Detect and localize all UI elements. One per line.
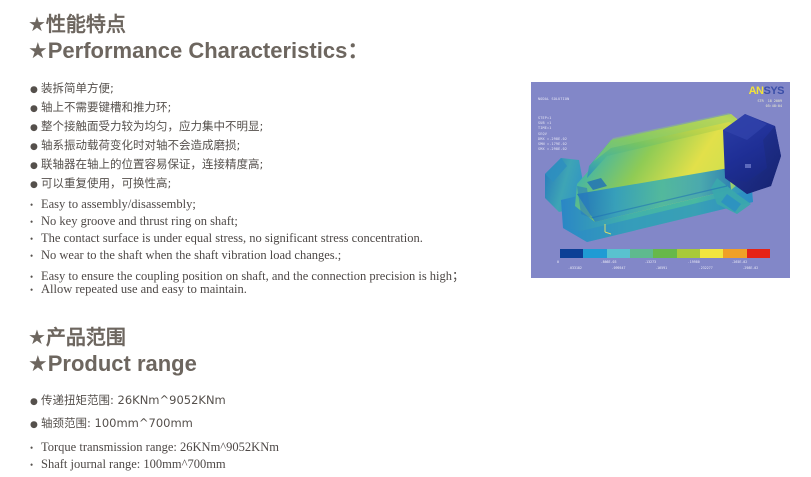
- bullet-dot-icon: ●: [30, 181, 41, 190]
- list-item: •Torque transmission range: 26KNm^9052KN…: [30, 440, 279, 457]
- fea-colorbar-labels-upper: 0 .866E-03 .13273 .19980 .265E-02: [557, 260, 775, 264]
- ansys-logo: ANSYS: [749, 86, 784, 97]
- performance-bullets-cn: ●装拆简单方便; ●轴上不需要键槽和推力环; ●整个接触面受力较为均匀，应力集中…: [30, 80, 263, 194]
- performance-bullets-en: •Easy to assembly/disassembly; •No key g…: [30, 197, 465, 299]
- list-item-label: No key groove and thrust ring on shaft;: [41, 214, 238, 229]
- list-item-label: Allow repeated use and easy to maintain.: [41, 282, 247, 297]
- list-item: ●装拆简单方便;: [30, 80, 263, 99]
- list-item: ●轴上不需要键槽和推力环;: [30, 99, 263, 118]
- bullet-dot-icon: ●: [30, 162, 41, 171]
- bullet-dot-icon: •: [30, 461, 41, 470]
- colorbar-label: .13273: [644, 260, 688, 264]
- list-item: ●轴系振动载荷变化时对轴不会造成磨损;: [30, 137, 263, 156]
- bullet-dot-icon: ●: [30, 124, 41, 133]
- list-item: ●轴颈范围: 100mm^700mm: [30, 415, 226, 438]
- list-item-label: Torque transmission range: 26KNm^9052KNm: [41, 440, 279, 455]
- colorbar-label: 0: [557, 260, 601, 264]
- bullet-dot-icon: ●: [30, 398, 41, 407]
- fea-info-lines: STEP=1 SUB =1 TIME=1 SEQV DMX =.298E-02 …: [538, 116, 569, 152]
- bullet-dot-icon: •: [30, 286, 41, 295]
- bullet-dot-icon: •: [30, 252, 41, 261]
- list-item: •Shaft journal range: 100mm^700mm: [30, 457, 279, 474]
- colorbar-swatch: [653, 249, 676, 258]
- colorbar-label: .298E-02: [742, 266, 786, 270]
- list-item: ●整个接触面受力较为均匀，应力集中不明显;: [30, 118, 263, 137]
- bullet-dot-icon: ●: [30, 105, 41, 114]
- colorbar-swatch: [723, 249, 746, 258]
- fea-colorbar: [560, 249, 770, 258]
- list-item-label: 装拆简单方便;: [41, 80, 114, 96]
- bullet-dot-icon: ●: [30, 86, 41, 95]
- product-range-heading-block: ★产品范围 ★Product range: [28, 327, 197, 377]
- performance-heading-en: ★Performance Characteristics：: [28, 38, 369, 64]
- list-item-label: Shaft journal range: 100mm^700mm: [41, 457, 226, 472]
- list-item: •No key groove and thrust ring on shaft;: [30, 214, 465, 231]
- ansys-fea-figure: NODAL SOLUTION STEP=1 SUB =1 TIME=1 SEQV…: [531, 82, 790, 278]
- list-item-label: 可以重复使用，可换性高;: [41, 175, 171, 191]
- list-item: •Allow repeated use and easy to maintain…: [30, 282, 465, 299]
- fea-info-block: NODAL SOLUTION STEP=1 SUB =1 TIME=1 SEQV…: [538, 87, 569, 163]
- bullet-dot-icon: •: [30, 201, 41, 210]
- colorbar-label: .16591: [655, 266, 699, 270]
- list-item: ●传递扭矩范围: 26KNm^9052KNm: [30, 392, 226, 415]
- list-item: •No wear to the shaft when the shaft vib…: [30, 248, 465, 265]
- product-range-heading-en: ★Product range: [28, 351, 197, 377]
- bullet-dot-icon: ●: [30, 143, 41, 152]
- ansys-logo-part2: SYS: [763, 85, 784, 97]
- list-item-label: No wear to the shaft when the shaft vibr…: [41, 248, 341, 263]
- fea-timestamp: STR 18 2009 05:48:04: [758, 99, 783, 109]
- colorbar-swatch: [677, 249, 700, 258]
- colorbar-label: .099547: [612, 266, 656, 270]
- list-item-label: 轴上不需要键槽和推力环;: [41, 99, 171, 115]
- colorbar-label: .866E-03: [601, 260, 645, 264]
- colorbar-label: .232277: [699, 266, 743, 270]
- colorbar-label: .19980: [688, 260, 732, 264]
- list-item-label: 传递扭矩范围: 26KNm^9052KNm: [41, 392, 226, 408]
- performance-heading-cn: ★性能特点: [28, 14, 369, 38]
- colorbar-swatch: [560, 249, 583, 258]
- list-item-label: 轴系振动载荷变化时对轴不会造成磨损;: [41, 137, 240, 153]
- colorbar-swatch: [583, 249, 606, 258]
- list-item-label: 整个接触面受力较为均匀，应力集中不明显;: [41, 118, 263, 134]
- colorbar-label: .033182: [568, 266, 612, 270]
- colorbar-swatch: [630, 249, 653, 258]
- list-item: ●可以重复使用，可换性高;: [30, 175, 263, 194]
- list-item-label: 轴颈范围: 100mm^700mm: [41, 415, 193, 431]
- fea-colorbar-labels-lower: .033182 .099547 .16591 .232277 .298E-02: [568, 266, 786, 270]
- list-item: •The contact surface is under equal stre…: [30, 231, 465, 248]
- colorbar-swatch: [607, 249, 630, 258]
- list-item-label: Easy to assembly/disassembly;: [41, 197, 196, 212]
- list-item-label: The contact surface is under equal stres…: [41, 231, 423, 246]
- list-item-label: 联轴器在轴上的位置容易保证，连接精度高;: [41, 156, 263, 172]
- colorbar-label: .265E-02: [731, 260, 775, 264]
- list-item: •Easy to ensure the coupling position on…: [30, 265, 465, 282]
- fea-info-title: NODAL SOLUTION: [538, 97, 569, 102]
- ansys-logo-part1: AN: [749, 85, 764, 97]
- bullet-dot-icon: •: [30, 235, 41, 244]
- product-range-bullets-en: •Torque transmission range: 26KNm^9052KN…: [30, 440, 279, 474]
- performance-heading-block: ★性能特点 ★Performance Characteristics：: [28, 14, 369, 64]
- list-item: •Easy to assembly/disassembly;: [30, 197, 465, 214]
- bullet-dot-icon: •: [30, 273, 41, 282]
- product-range-heading-cn: ★产品范围: [28, 327, 197, 351]
- bullet-dot-icon: •: [30, 444, 41, 453]
- bullet-dot-icon: ●: [30, 421, 41, 430]
- colorbar-swatch: [747, 249, 770, 258]
- bullet-dot-icon: •: [30, 218, 41, 227]
- colorbar-swatch: [700, 249, 723, 258]
- product-range-bullets-cn: ●传递扭矩范围: 26KNm^9052KNm ●轴颈范围: 100mm^700m…: [30, 392, 226, 438]
- list-item: ●联轴器在轴上的位置容易保证，连接精度高;: [30, 156, 263, 175]
